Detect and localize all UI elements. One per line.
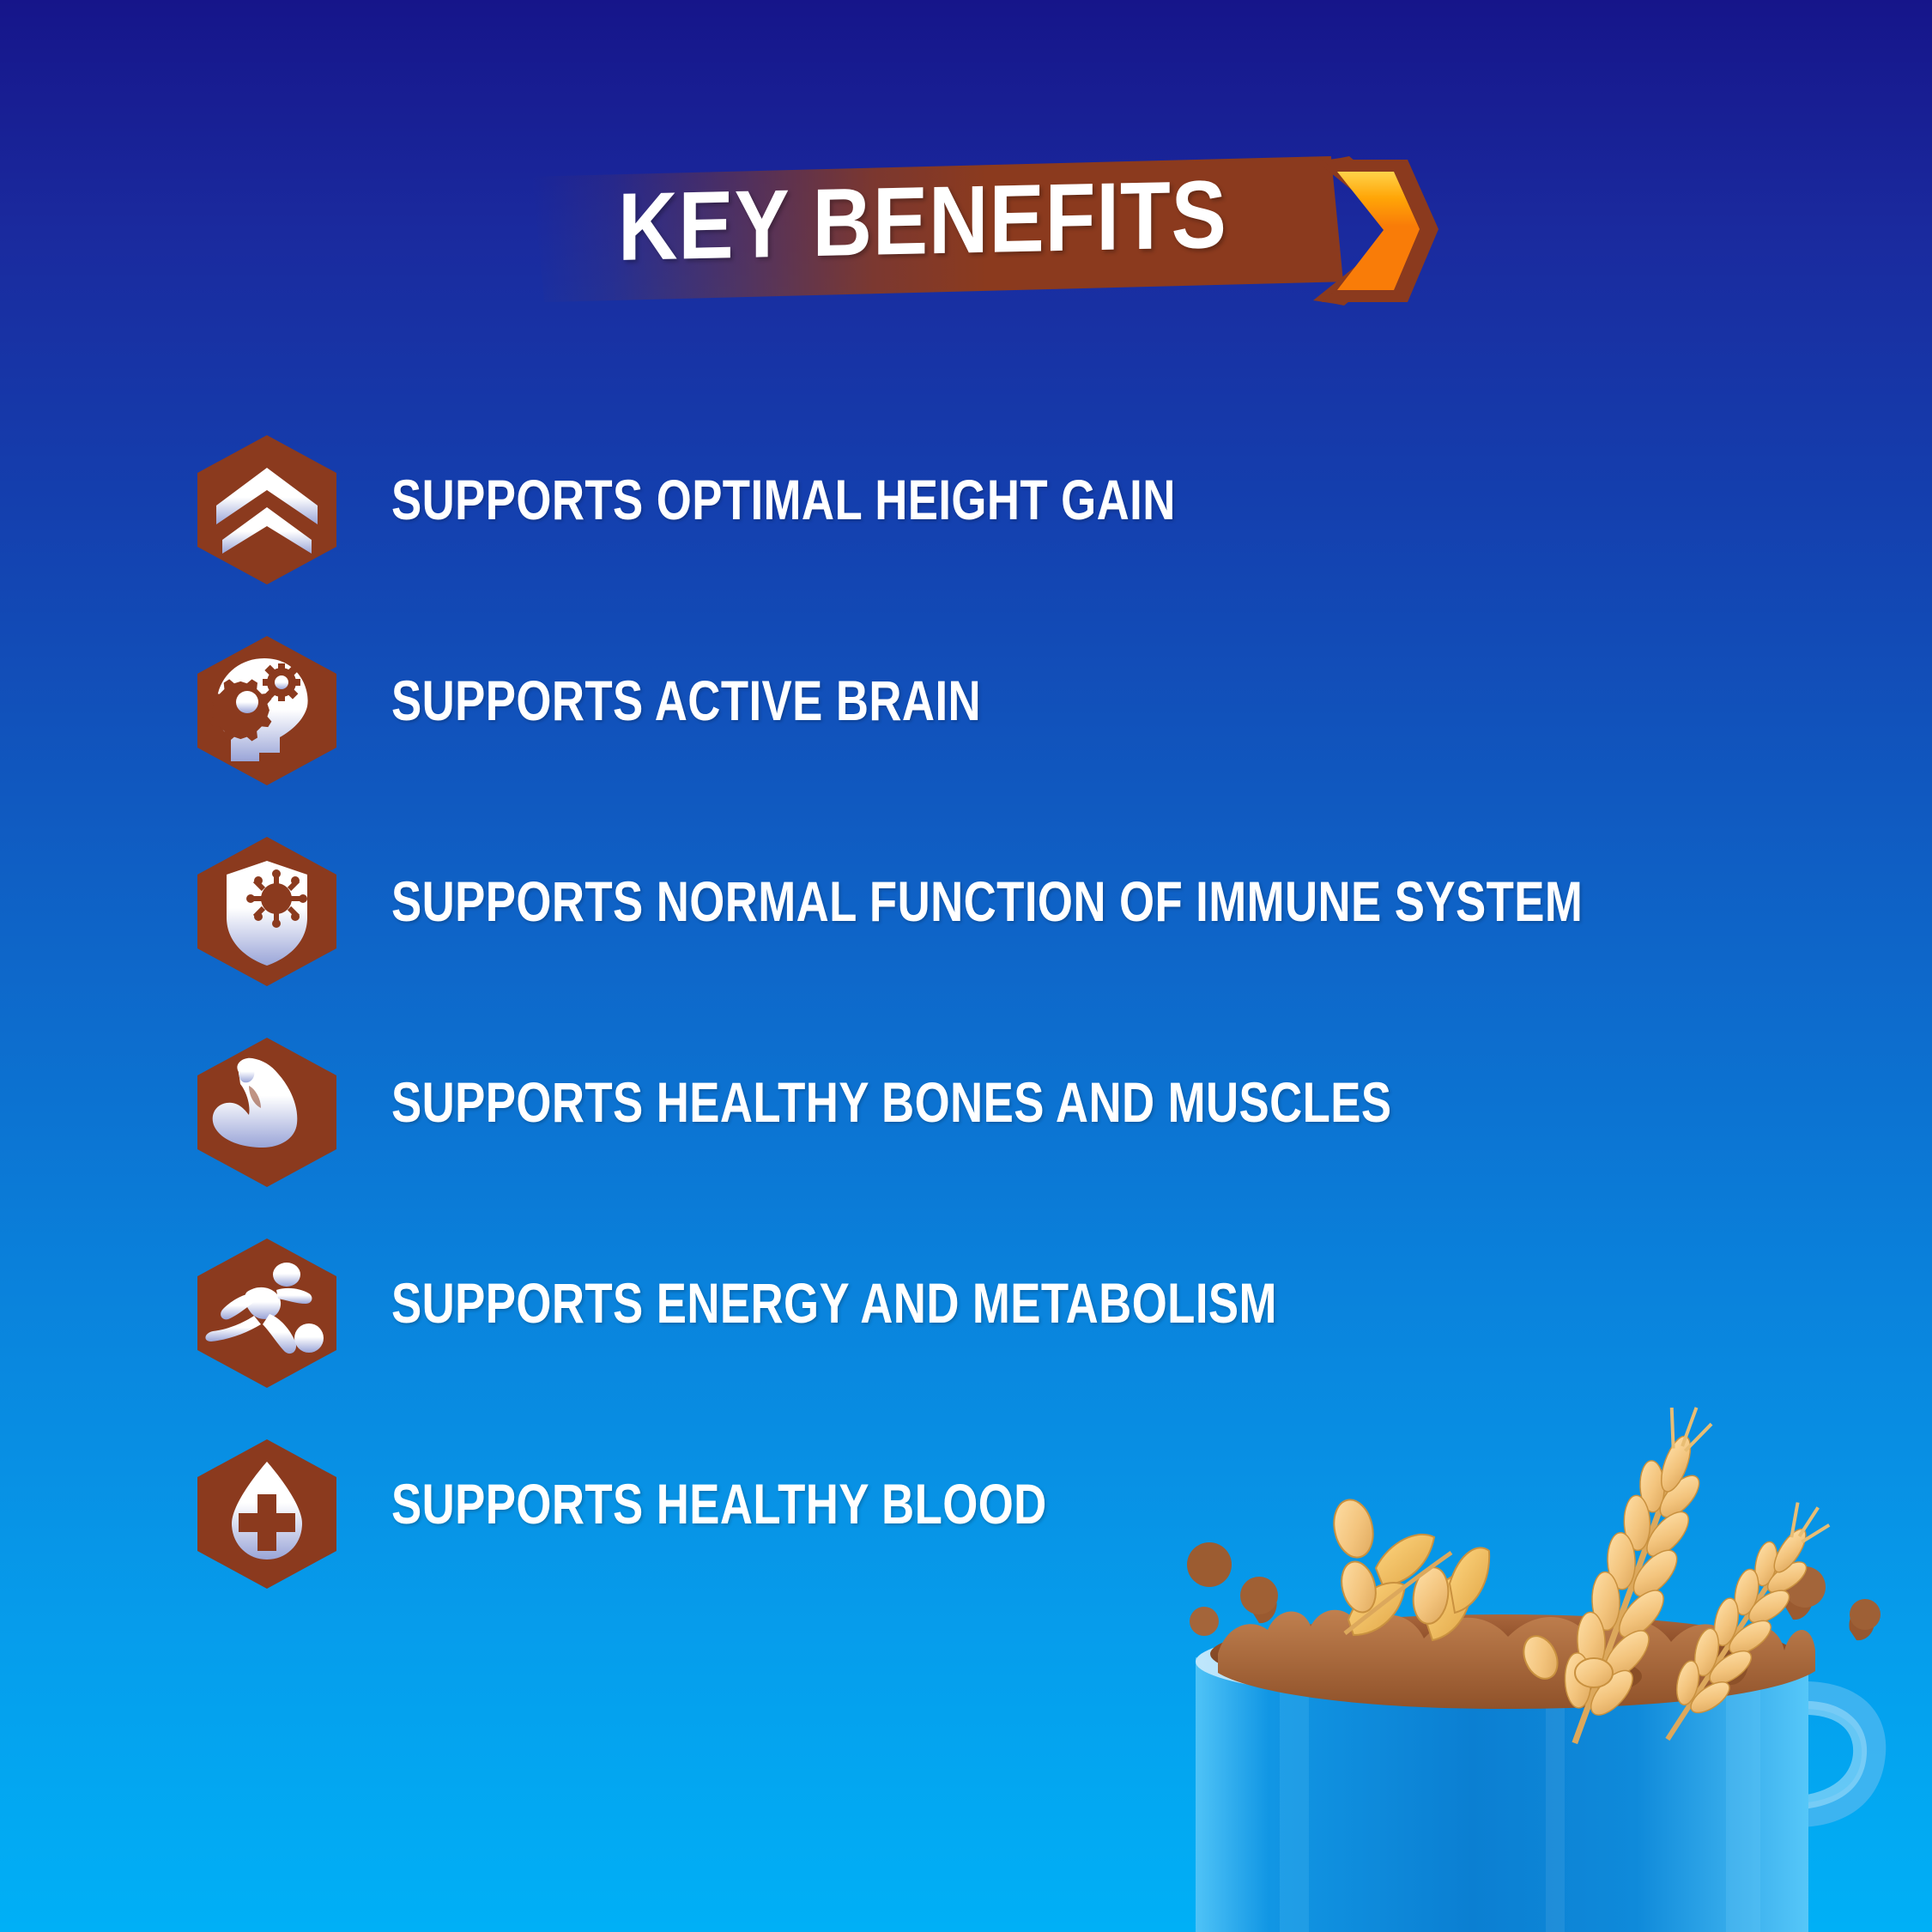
chevrons-up-icon bbox=[191, 433, 343, 586]
benefits-list: SUPPORTS OPTIMAL HEIGHT GAIN bbox=[0, 433, 1932, 1638]
benefit-row[interactable]: SUPPORTS OPTIMAL HEIGHT GAIN bbox=[0, 433, 1932, 634]
benefit-label: SUPPORTS ACTIVE BRAIN bbox=[391, 672, 981, 729]
head-gears-icon bbox=[191, 634, 343, 787]
benefit-label: SUPPORTS HEALTHY BLOOD bbox=[391, 1475, 1047, 1532]
benefit-label: SUPPORTS ENERGY AND METABOLISM bbox=[391, 1275, 1277, 1331]
benefit-row[interactable]: SUPPORTS ENERGY AND METABOLISM bbox=[0, 1237, 1932, 1438]
page-title: KEY BENEFITS bbox=[618, 150, 1208, 292]
benefit-label: SUPPORTS HEALTHY BONES AND MUSCLES bbox=[391, 1074, 1392, 1130]
benefit-row[interactable]: SUPPORTS ACTIVE BRAIN bbox=[0, 634, 1932, 835]
flexed-bicep-icon bbox=[191, 1036, 343, 1189]
running-person-icon bbox=[191, 1237, 343, 1390]
shield-virus-icon bbox=[191, 835, 343, 988]
benefit-row[interactable]: SUPPORTS NORMAL FUNCTION OF IMMUNE SYSTE… bbox=[0, 835, 1932, 1036]
benefit-row[interactable]: SUPPORTS HEALTHY BONES AND MUSCLES bbox=[0, 1036, 1932, 1237]
blood-drop-plus-icon bbox=[191, 1438, 343, 1590]
header-banner: KEY BENEFITS bbox=[532, 156, 1476, 302]
double-chevron-right-icon bbox=[1305, 149, 1476, 312]
benefit-row[interactable]: SUPPORTS HEALTHY BLOOD bbox=[0, 1438, 1932, 1638]
benefit-label: SUPPORTS OPTIMAL HEIGHT GAIN bbox=[391, 471, 1176, 528]
benefit-label: SUPPORTS NORMAL FUNCTION OF IMMUNE SYSTE… bbox=[391, 873, 1583, 930]
key-benefits-poster: KEY BENEFITS bbox=[0, 0, 1932, 1932]
